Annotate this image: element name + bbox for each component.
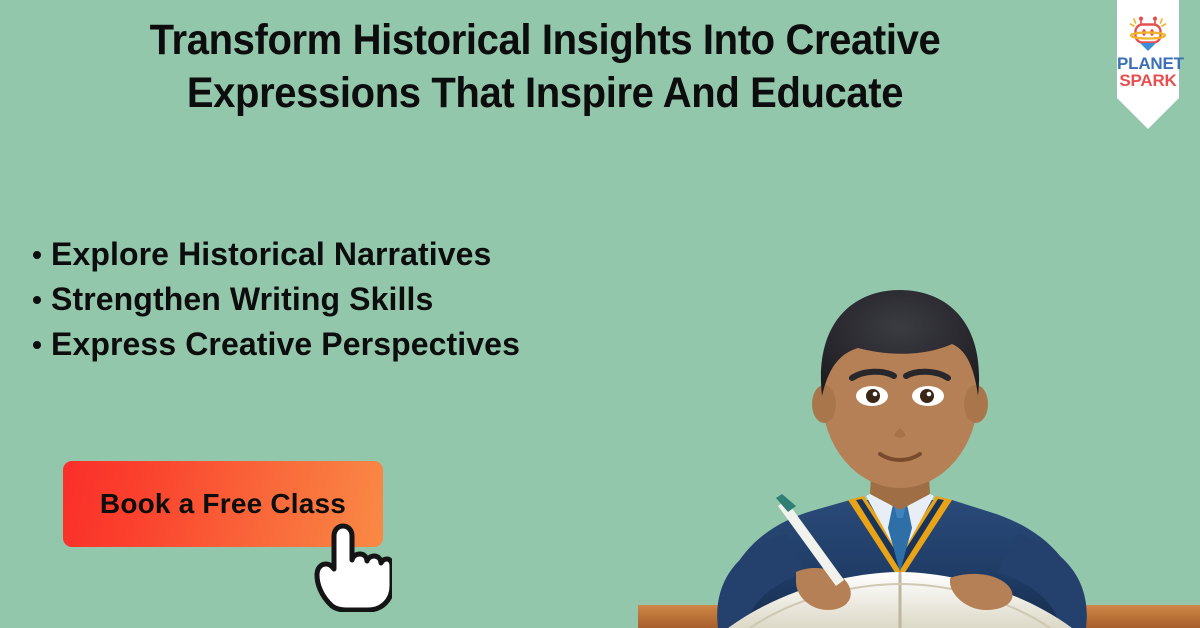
list-item: Explore Historical Narratives bbox=[30, 232, 670, 277]
student-photo-illustration bbox=[600, 228, 1200, 628]
list-item: Express Creative Perspectives bbox=[30, 322, 670, 367]
headline-line-1: Transform Historical Insights Into Creat… bbox=[38, 14, 1052, 67]
benefit-label: Explore Historical Narratives bbox=[51, 236, 491, 272]
logo-word-spark: SPARK bbox=[1117, 72, 1179, 89]
bullet-dot-icon bbox=[33, 251, 41, 259]
bullet-dot-icon bbox=[33, 341, 41, 349]
list-item: Strengthen Writing Skills bbox=[30, 277, 670, 322]
book-free-class-button[interactable]: Book a Free Class bbox=[63, 461, 383, 547]
planetspark-robot-icon bbox=[1128, 16, 1168, 52]
benefit-label: Express Creative Perspectives bbox=[51, 326, 520, 362]
page-title: Transform Historical Insights Into Creat… bbox=[38, 14, 1052, 120]
student-photo bbox=[600, 228, 1200, 628]
benefit-label: Strengthen Writing Skills bbox=[51, 281, 433, 317]
logo-wordmark: PLANET SPARK bbox=[1117, 55, 1179, 89]
ad-banner: Transform Historical Insights Into Creat… bbox=[0, 0, 1200, 628]
bullet-dot-icon bbox=[33, 296, 41, 304]
brand-logo[interactable]: PLANET SPARK bbox=[1117, 0, 1179, 129]
logo-word-planet: PLANET bbox=[1117, 55, 1179, 72]
cta-container: Book a Free Class bbox=[63, 461, 383, 547]
benefits-list: Explore Historical Narratives Strengthen… bbox=[30, 232, 670, 367]
headline-line-2: Expressions That Inspire And Educate bbox=[38, 67, 1052, 120]
